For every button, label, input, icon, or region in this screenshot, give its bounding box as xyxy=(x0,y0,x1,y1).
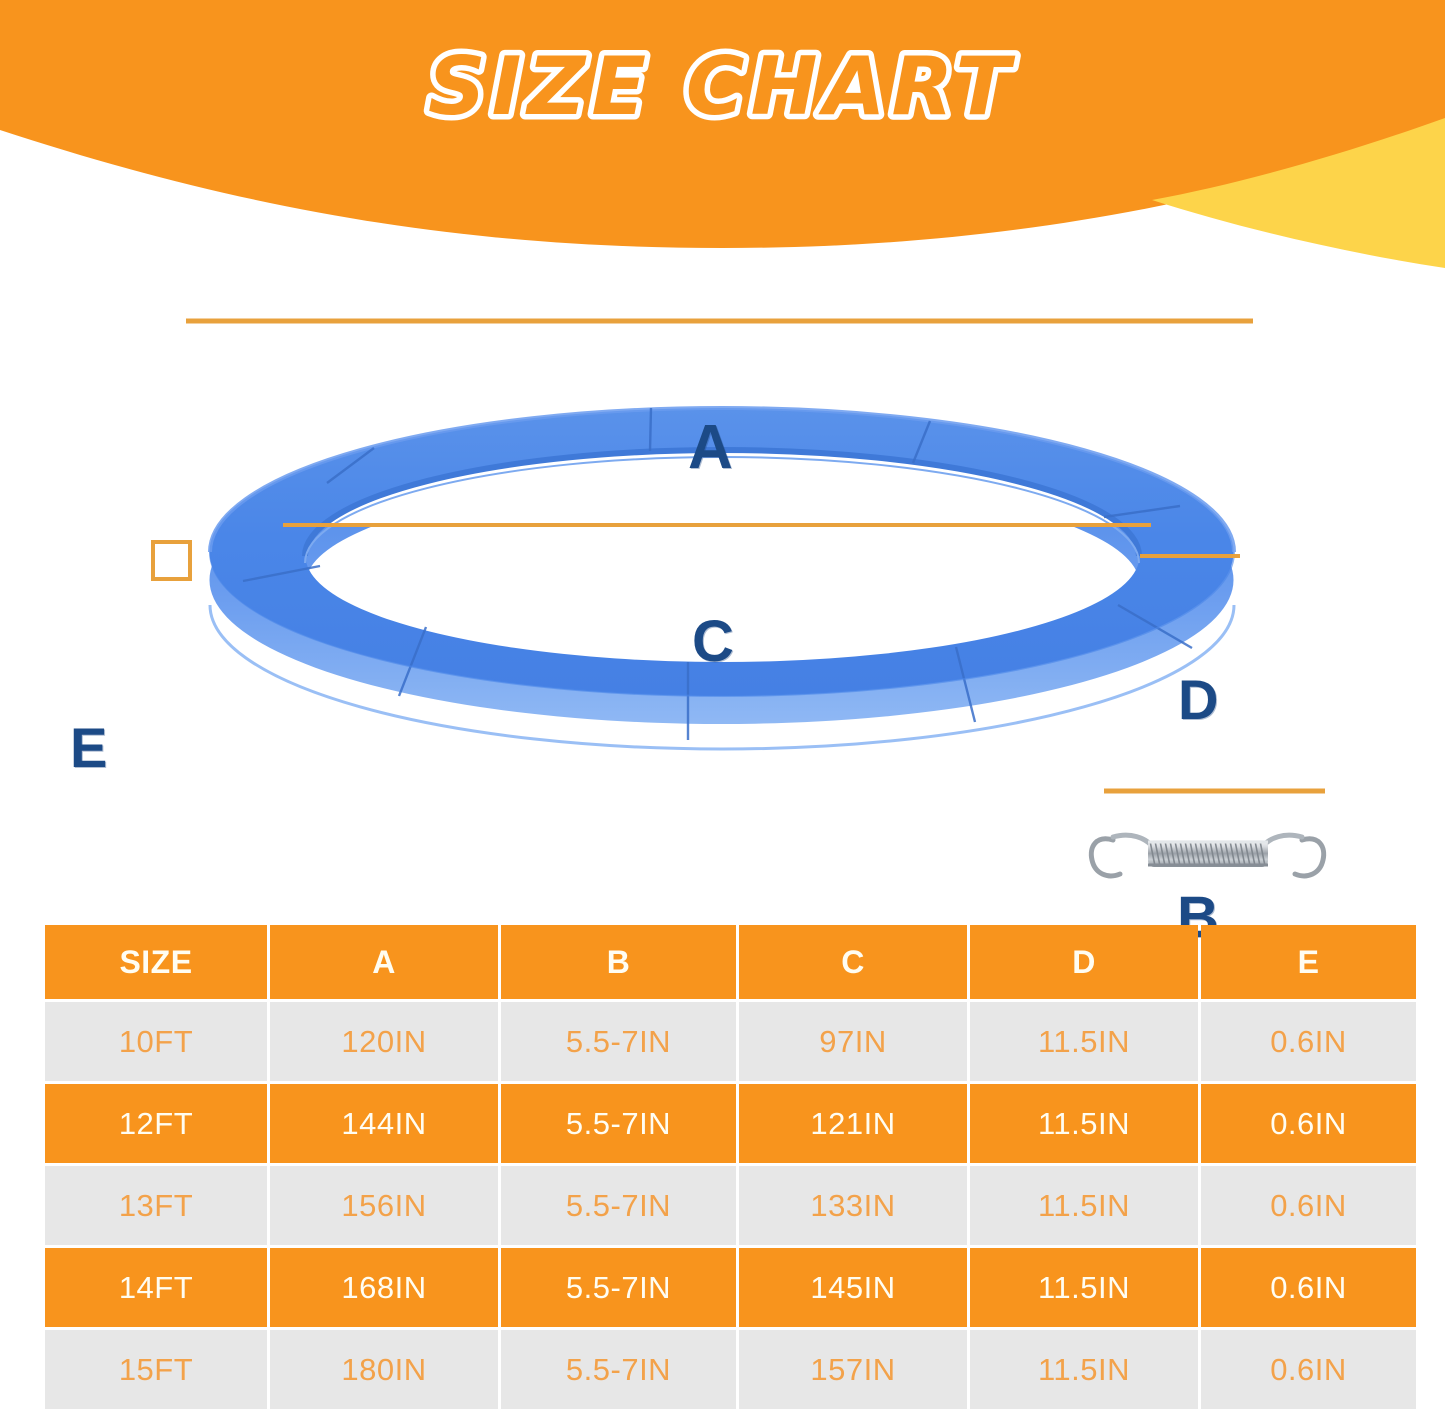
table-row: 12FT 144IN 5.5-7IN 121IN 11.5IN 0.6IN xyxy=(45,1084,1416,1163)
cell-a: 120IN xyxy=(270,1002,498,1081)
col-header-a: A xyxy=(270,925,498,999)
cell-c: 157IN xyxy=(739,1330,967,1409)
col-header-c: C xyxy=(739,925,967,999)
table-row: 15FT 180IN 5.5-7IN 157IN 11.5IN 0.6IN xyxy=(45,1330,1416,1409)
table-row: 13FT 156IN 5.5-7IN 133IN 11.5IN 0.6IN xyxy=(45,1166,1416,1245)
cell-size: 14FT xyxy=(45,1248,267,1327)
cell-b: 5.5-7IN xyxy=(501,1248,736,1327)
label-d: D xyxy=(1178,672,1218,728)
cell-a: 144IN xyxy=(270,1084,498,1163)
cell-c: 121IN xyxy=(739,1084,967,1163)
cell-size: 15FT xyxy=(45,1330,267,1409)
cell-a: 168IN xyxy=(270,1248,498,1327)
cell-d: 11.5IN xyxy=(970,1330,1198,1409)
size-table: SIZE A B C D E 10FT 120IN 5.5-7IN 97IN 1… xyxy=(42,922,1419,1412)
label-e: E xyxy=(70,720,107,776)
size-chart-page: SIZE CHART xyxy=(0,0,1445,1417)
cell-e: 0.6IN xyxy=(1201,1084,1416,1163)
col-header-e: E xyxy=(1201,925,1416,999)
cell-c: 145IN xyxy=(739,1248,967,1327)
cell-c: 97IN xyxy=(739,1002,967,1081)
table-row: 14FT 168IN 5.5-7IN 145IN 11.5IN 0.6IN xyxy=(45,1248,1416,1327)
cell-d: 11.5IN xyxy=(970,1248,1198,1327)
cell-b: 5.5-7IN xyxy=(501,1002,736,1081)
measure-bracket-e xyxy=(153,542,190,579)
page-title-wrap: SIZE CHART xyxy=(0,30,1445,140)
cell-b: 5.5-7IN xyxy=(501,1330,736,1409)
size-table-wrap: SIZE A B C D E 10FT 120IN 5.5-7IN 97IN 1… xyxy=(42,922,1404,1412)
cell-d: 11.5IN xyxy=(970,1084,1198,1163)
product-diagram: A B C D E xyxy=(0,195,1445,915)
table-header-row: SIZE A B C D E xyxy=(45,925,1416,999)
cell-b: 5.5-7IN xyxy=(501,1084,736,1163)
page-title: SIZE CHART xyxy=(428,40,1016,133)
cell-b: 5.5-7IN xyxy=(501,1166,736,1245)
cell-a: 156IN xyxy=(270,1166,498,1245)
cell-e: 0.6IN xyxy=(1201,1002,1416,1081)
cell-a: 180IN xyxy=(270,1330,498,1409)
cell-d: 11.5IN xyxy=(970,1002,1198,1081)
cell-c: 133IN xyxy=(739,1166,967,1245)
table-row: 10FT 120IN 5.5-7IN 97IN 11.5IN 0.6IN xyxy=(45,1002,1416,1081)
cell-e: 0.6IN xyxy=(1201,1330,1416,1409)
cell-e: 0.6IN xyxy=(1201,1248,1416,1327)
cell-e: 0.6IN xyxy=(1201,1166,1416,1245)
col-header-d: D xyxy=(970,925,1198,999)
col-header-b: B xyxy=(501,925,736,999)
cell-size: 12FT xyxy=(45,1084,267,1163)
label-a: A xyxy=(688,417,733,479)
cell-d: 11.5IN xyxy=(970,1166,1198,1245)
cell-size: 13FT xyxy=(45,1166,267,1245)
col-header-size: SIZE xyxy=(45,925,267,999)
label-c: C xyxy=(692,613,734,671)
trampoline-spring xyxy=(1091,835,1323,876)
cell-size: 10FT xyxy=(45,1002,267,1081)
